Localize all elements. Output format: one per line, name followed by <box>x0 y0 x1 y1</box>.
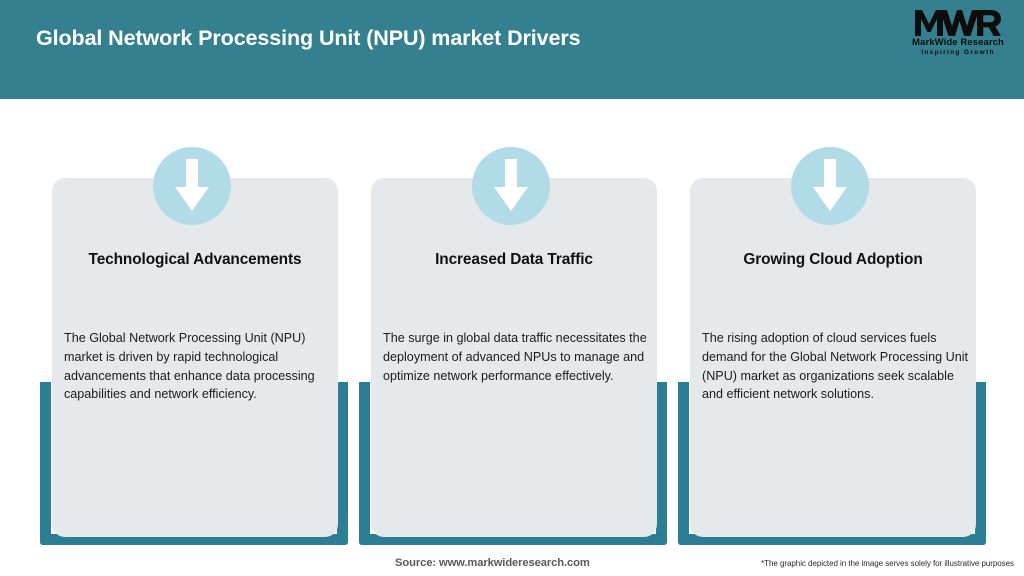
driver-card-2: Increased Data Traffic The surge in glob… <box>359 0 667 576</box>
arrow-down-icon <box>472 147 550 225</box>
source-label: Source: www.markwideresearch.com <box>395 557 590 569</box>
card-title: Increased Data Traffic <box>371 251 657 269</box>
arrow-down-glyph <box>813 159 847 211</box>
card-body-text: The surge in global data traffic necessi… <box>383 329 649 385</box>
driver-card-3: Growing Cloud Adoption The rising adopti… <box>678 0 986 576</box>
card-title: Technological Advancements <box>52 251 338 269</box>
driver-card-1: Technological Advancements The Global Ne… <box>40 0 348 576</box>
card-body-text: The rising adoption of cloud services fu… <box>702 329 968 404</box>
arrow-down-icon <box>153 147 231 225</box>
card-title: Growing Cloud Adoption <box>690 251 976 269</box>
card-body-text: The Global Network Processing Unit (NPU)… <box>64 329 330 404</box>
slide-canvas: Global Network Processing Unit (NPU) mar… <box>0 0 1024 576</box>
arrow-down-icon <box>791 147 869 225</box>
disclaimer-label: *The graphic depicted in the image serve… <box>761 559 1014 568</box>
arrow-down-glyph <box>494 159 528 211</box>
arrow-down-glyph <box>175 159 209 211</box>
